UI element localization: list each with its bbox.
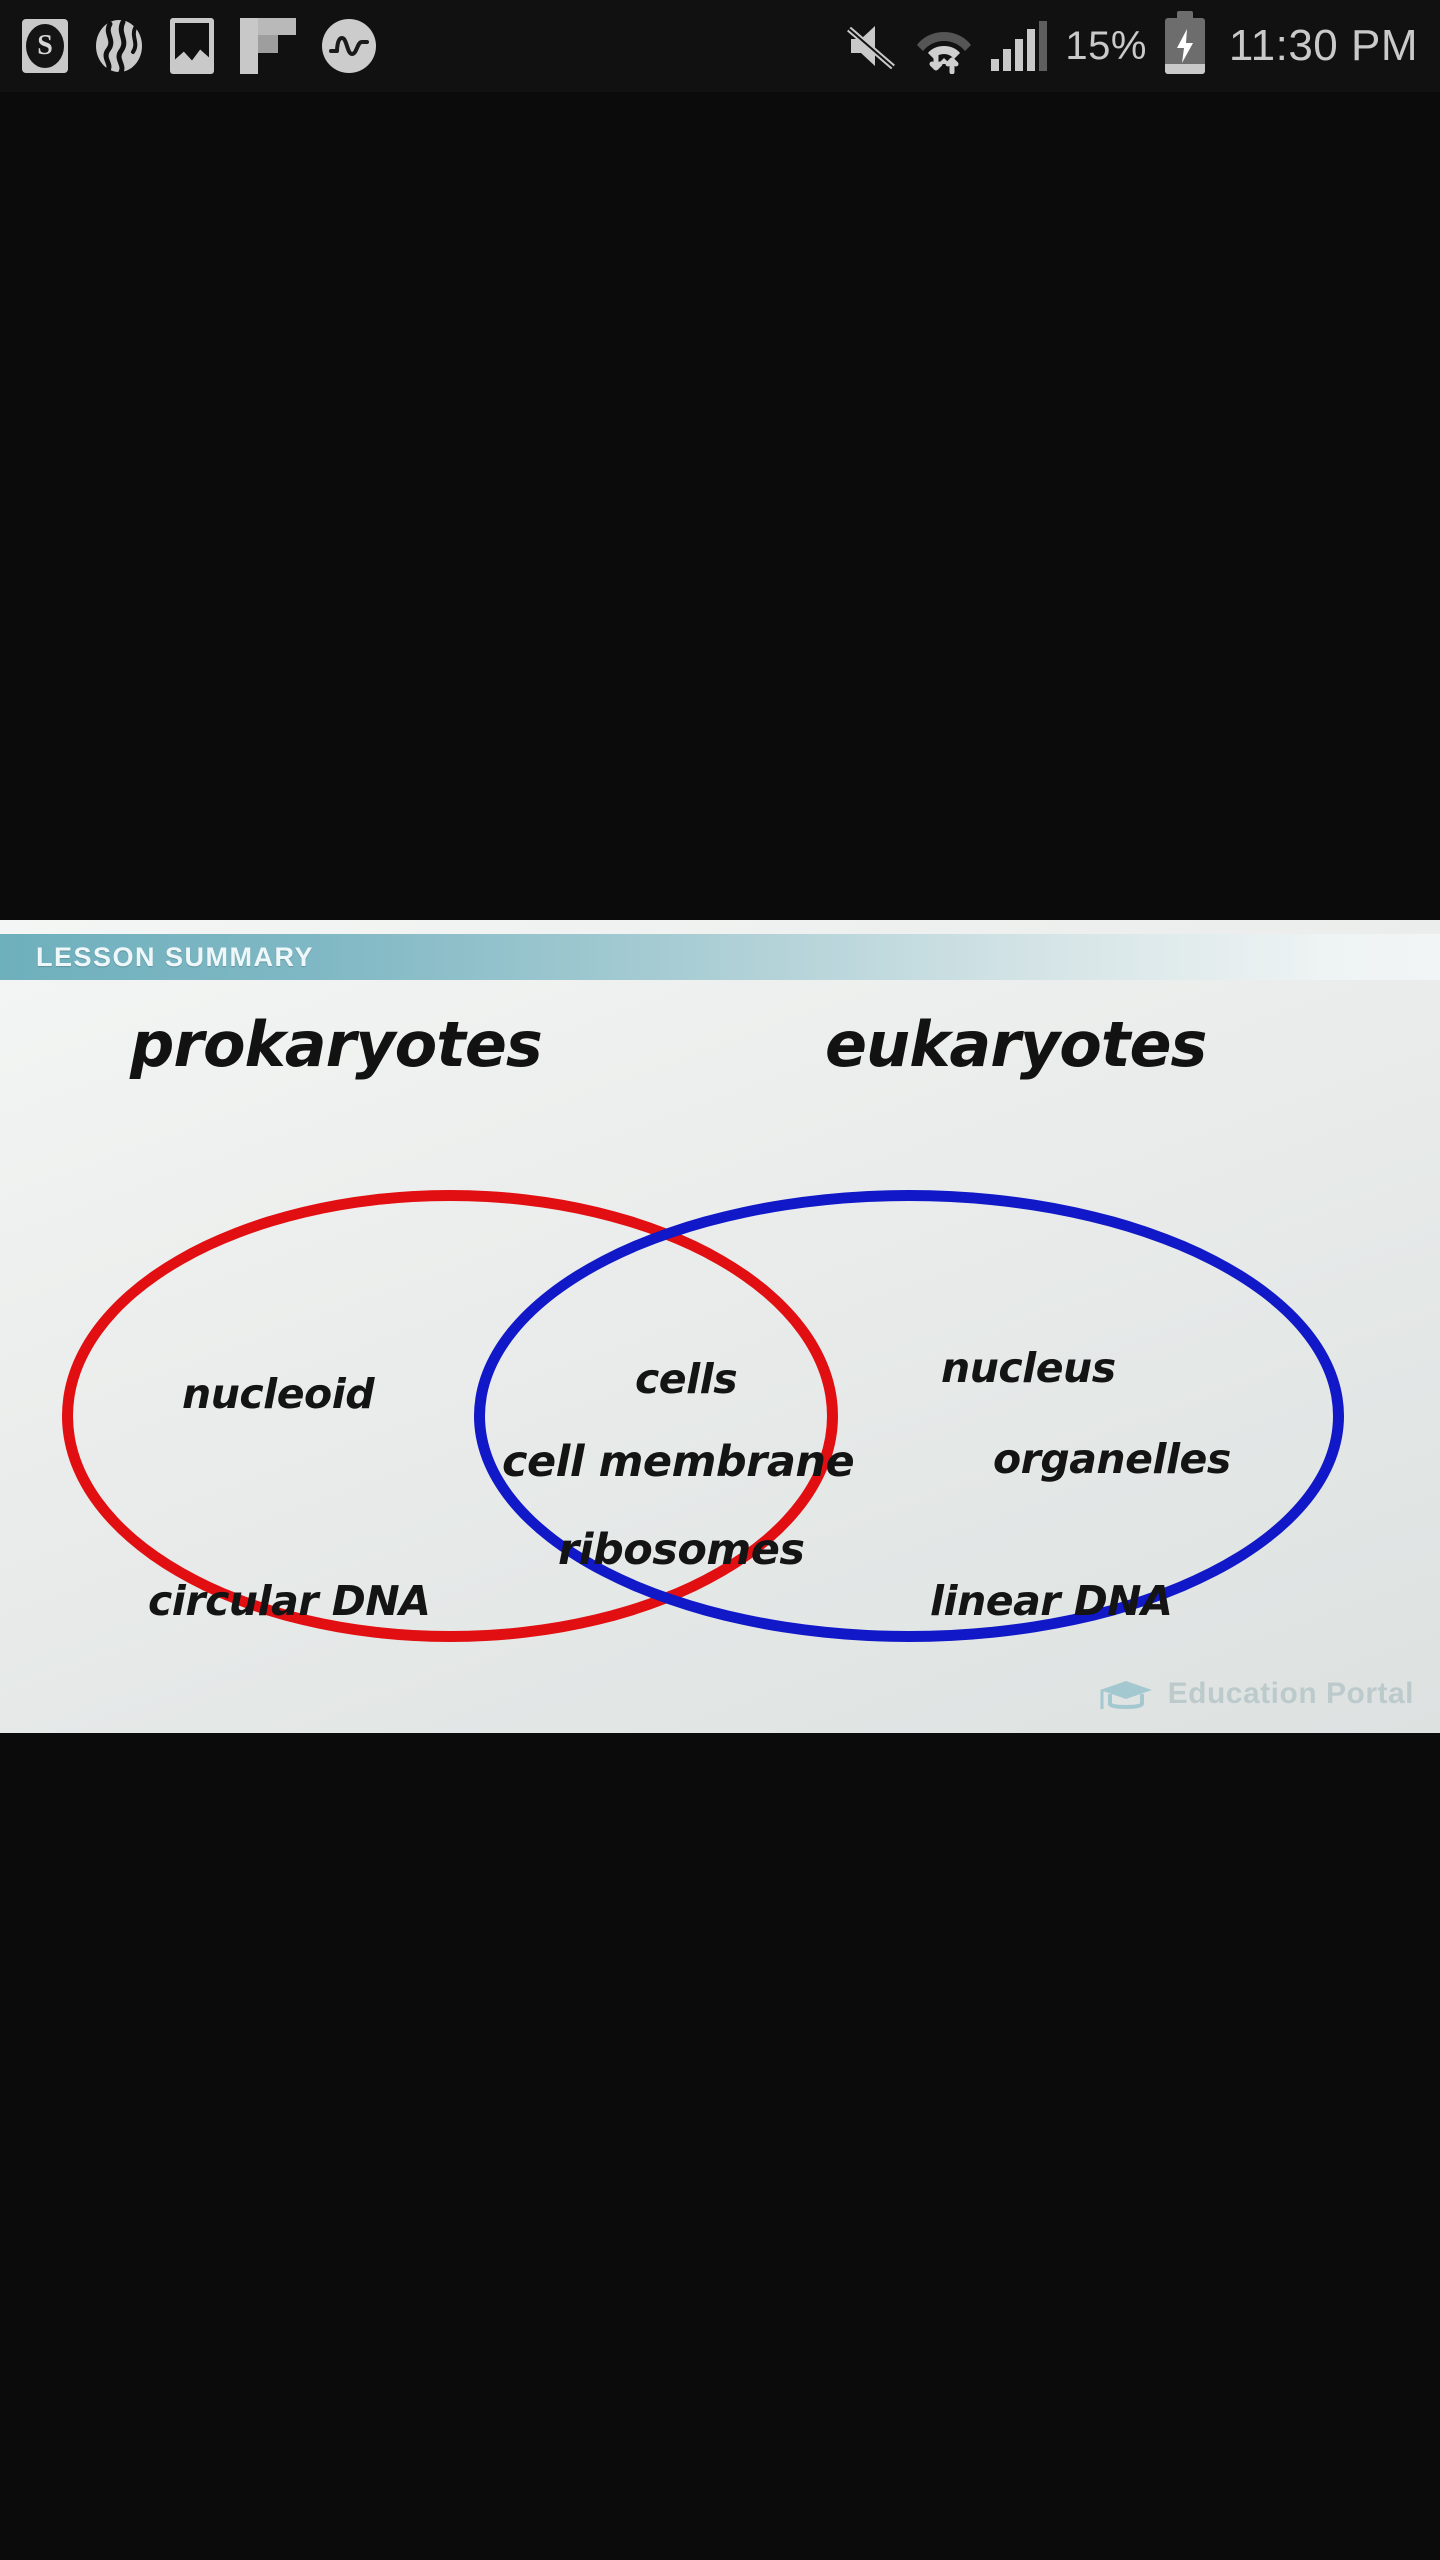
battery-percentage: 15%	[1065, 24, 1147, 69]
flipboard-icon-bar2	[258, 18, 296, 35]
venn-label-shared-1: cell membrane	[502, 1437, 854, 1487]
venn-label-right-0: nucleus	[941, 1344, 1116, 1392]
signal-bar-3	[1015, 39, 1023, 71]
watermark: Education Portal	[1098, 1677, 1414, 1711]
venn-label-right-1: organelles	[993, 1435, 1231, 1483]
wavy-notification-icon	[94, 18, 144, 74]
venn-title-right: eukaryotes	[825, 1008, 1206, 1081]
venn-label-left-1: circular DNA	[148, 1577, 430, 1625]
image-viewer-canvas[interactable]: LESSON SUMMARY prokaryotes eukaryotes nu…	[0, 92, 1440, 2560]
flipboard-icon-bar3	[258, 35, 278, 53]
mute-icon	[843, 19, 897, 73]
wifi-data-transfer-icon	[915, 18, 973, 74]
watermark-text: Education Portal	[1168, 1677, 1414, 1711]
signal-bar-2	[1003, 49, 1011, 71]
gallery-photo-icon-mountain	[175, 48, 209, 69]
graduation-cap-icon	[1098, 1677, 1154, 1711]
signal-bar-4	[1027, 29, 1035, 71]
venn-label-right-2: linear DNA	[930, 1577, 1172, 1625]
cellular-signal-icon	[991, 21, 1047, 71]
venn-label-shared-2: ribosomes	[558, 1525, 804, 1575]
gallery-photo-icon	[170, 18, 214, 74]
signal-bar-5	[1039, 21, 1047, 71]
status-bar-right-icons: 15% 11:30 PM	[843, 18, 1418, 74]
flipboard-icon	[240, 18, 296, 74]
skype-icon-letter: S	[26, 24, 64, 68]
flipboard-icon-bar1	[240, 18, 258, 74]
venn-title-left: prokaryotes	[130, 1008, 542, 1081]
skype-icon: S	[22, 19, 68, 73]
musically-icon	[322, 19, 376, 73]
status-bar[interactable]: S	[0, 0, 1440, 92]
battery-cap	[1177, 11, 1193, 18]
charging-bolt-icon	[1174, 28, 1196, 64]
battery-fill	[1165, 64, 1205, 74]
signal-bar-1	[991, 59, 999, 71]
lesson-summary-slide[interactable]: LESSON SUMMARY prokaryotes eukaryotes nu…	[0, 920, 1440, 1733]
venn-label-shared-0: cells	[635, 1355, 737, 1403]
venn-label-left-0: nucleoid	[182, 1370, 374, 1418]
status-bar-left-icons: S	[22, 18, 376, 74]
battery-charging-icon	[1165, 18, 1205, 74]
status-bar-clock: 11:30 PM	[1229, 21, 1418, 71]
venn-diagram: prokaryotes eukaryotes nucleoid circular…	[0, 920, 1440, 1733]
